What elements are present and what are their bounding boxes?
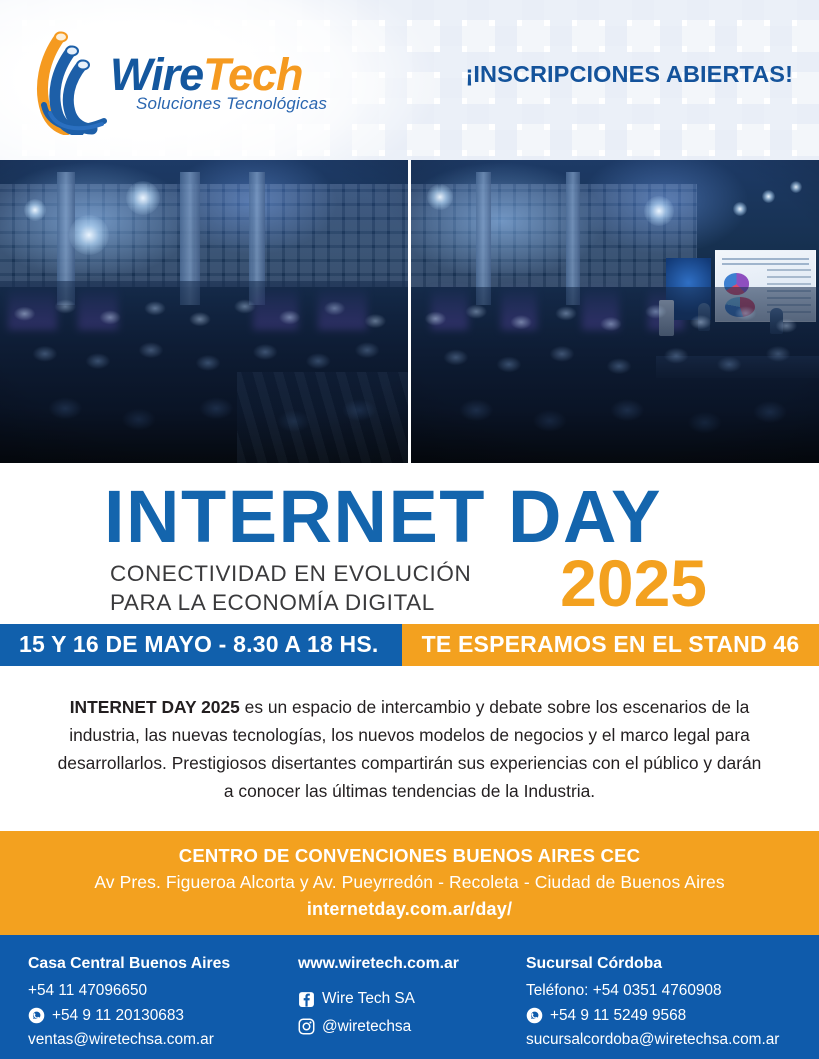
event-website-url[interactable]: internetday.com.ar/day/ — [10, 899, 809, 920]
description-lead: INTERNET DAY 2025 — [70, 697, 240, 717]
footer-email-cordoba[interactable]: sucursalcordoba@wiretechsa.com.ar — [526, 1028, 797, 1052]
event-year: 2025 — [560, 552, 819, 613]
footer-whatsapp-cordoba: +54 9 11 5249 9568 — [550, 1004, 686, 1028]
conference-stage-photo — [411, 160, 819, 463]
photo-strip — [0, 160, 819, 463]
footer-column-social: www.wiretech.com.ar Wire Tech SA @wirete… — [298, 952, 526, 1045]
cable-swoosh-icon — [30, 25, 108, 135]
event-subtitle: CONECTIVIDAD EN EVOLUCIÓN PARA LA ECONOM… — [0, 552, 471, 618]
company-website-url[interactable]: www.wiretech.com.ar — [298, 952, 526, 977]
footer: Casa Central Buenos Aires +54 11 4709665… — [0, 935, 819, 1059]
whatsapp-icon — [526, 1007, 543, 1024]
wiretech-logo[interactable]: WireTech Soluciones Tecnológicas — [30, 25, 327, 135]
venue-address: Av Pres. Figueroa Alcorta y Av. Pueyrred… — [10, 872, 809, 893]
footer-phone-buenos-aires: +54 11 47096650 — [28, 979, 298, 1003]
venue-section: CENTRO DE CONVENCIONES BUENOS AIRES CEC … — [0, 831, 819, 935]
flyer-page: WireTech Soluciones Tecnológicas ¡INSCRI… — [0, 0, 819, 1024]
footer-column-buenos-aires: Casa Central Buenos Aires +54 11 4709665… — [22, 952, 298, 1045]
footer-facebook-handle[interactable]: Wire Tech SA — [322, 987, 415, 1011]
conference-audience-photo — [0, 160, 408, 463]
stand-callout: TE ESPERAMOS EN EL STAND 46 — [402, 624, 819, 666]
footer-instagram-handle[interactable]: @wiretechsa — [322, 1015, 411, 1039]
title-block: INTERNET DAY CONECTIVIDAD EN EVOLUCIÓN P… — [0, 463, 819, 624]
date-bar: 15 Y 16 DE MAYO - 8.30 A 18 HS. TE ESPER… — [0, 624, 819, 666]
footer-column-cordoba: Sucursal Córdoba Teléfono: +54 0351 4760… — [526, 952, 797, 1045]
footer-phone-cordoba: Teléfono: +54 0351 4760908 — [526, 979, 797, 1003]
event-description: INTERNET DAY 2025 es un espacio de inter… — [0, 666, 819, 832]
footer-heading-buenos-aires: Casa Central Buenos Aires — [28, 952, 298, 977]
registration-open-announcement: ¡INSCRIPCIONES ABIERTAS! — [466, 61, 794, 88]
instagram-icon — [298, 1018, 315, 1035]
logo-name-tech: Tech — [203, 49, 302, 100]
whatsapp-icon — [28, 1007, 45, 1024]
facebook-icon — [298, 991, 315, 1008]
footer-email-buenos-aires[interactable]: ventas@wiretechsa.com.ar — [28, 1028, 298, 1052]
event-dates: 15 Y 16 DE MAYO - 8.30 A 18 HS. — [0, 624, 402, 666]
footer-whatsapp-buenos-aires: +54 9 11 20130683 — [52, 1004, 184, 1028]
logo-tagline: Soluciones Tecnológicas — [110, 94, 327, 114]
venue-name: CENTRO DE CONVENCIONES BUENOS AIRES CEC — [10, 845, 809, 867]
header: WireTech Soluciones Tecnológicas ¡INSCRI… — [0, 0, 819, 160]
footer-heading-cordoba: Sucursal Córdoba — [526, 952, 797, 977]
logo-name-wire: Wire — [110, 49, 203, 100]
event-title: INTERNET DAY — [0, 481, 819, 552]
